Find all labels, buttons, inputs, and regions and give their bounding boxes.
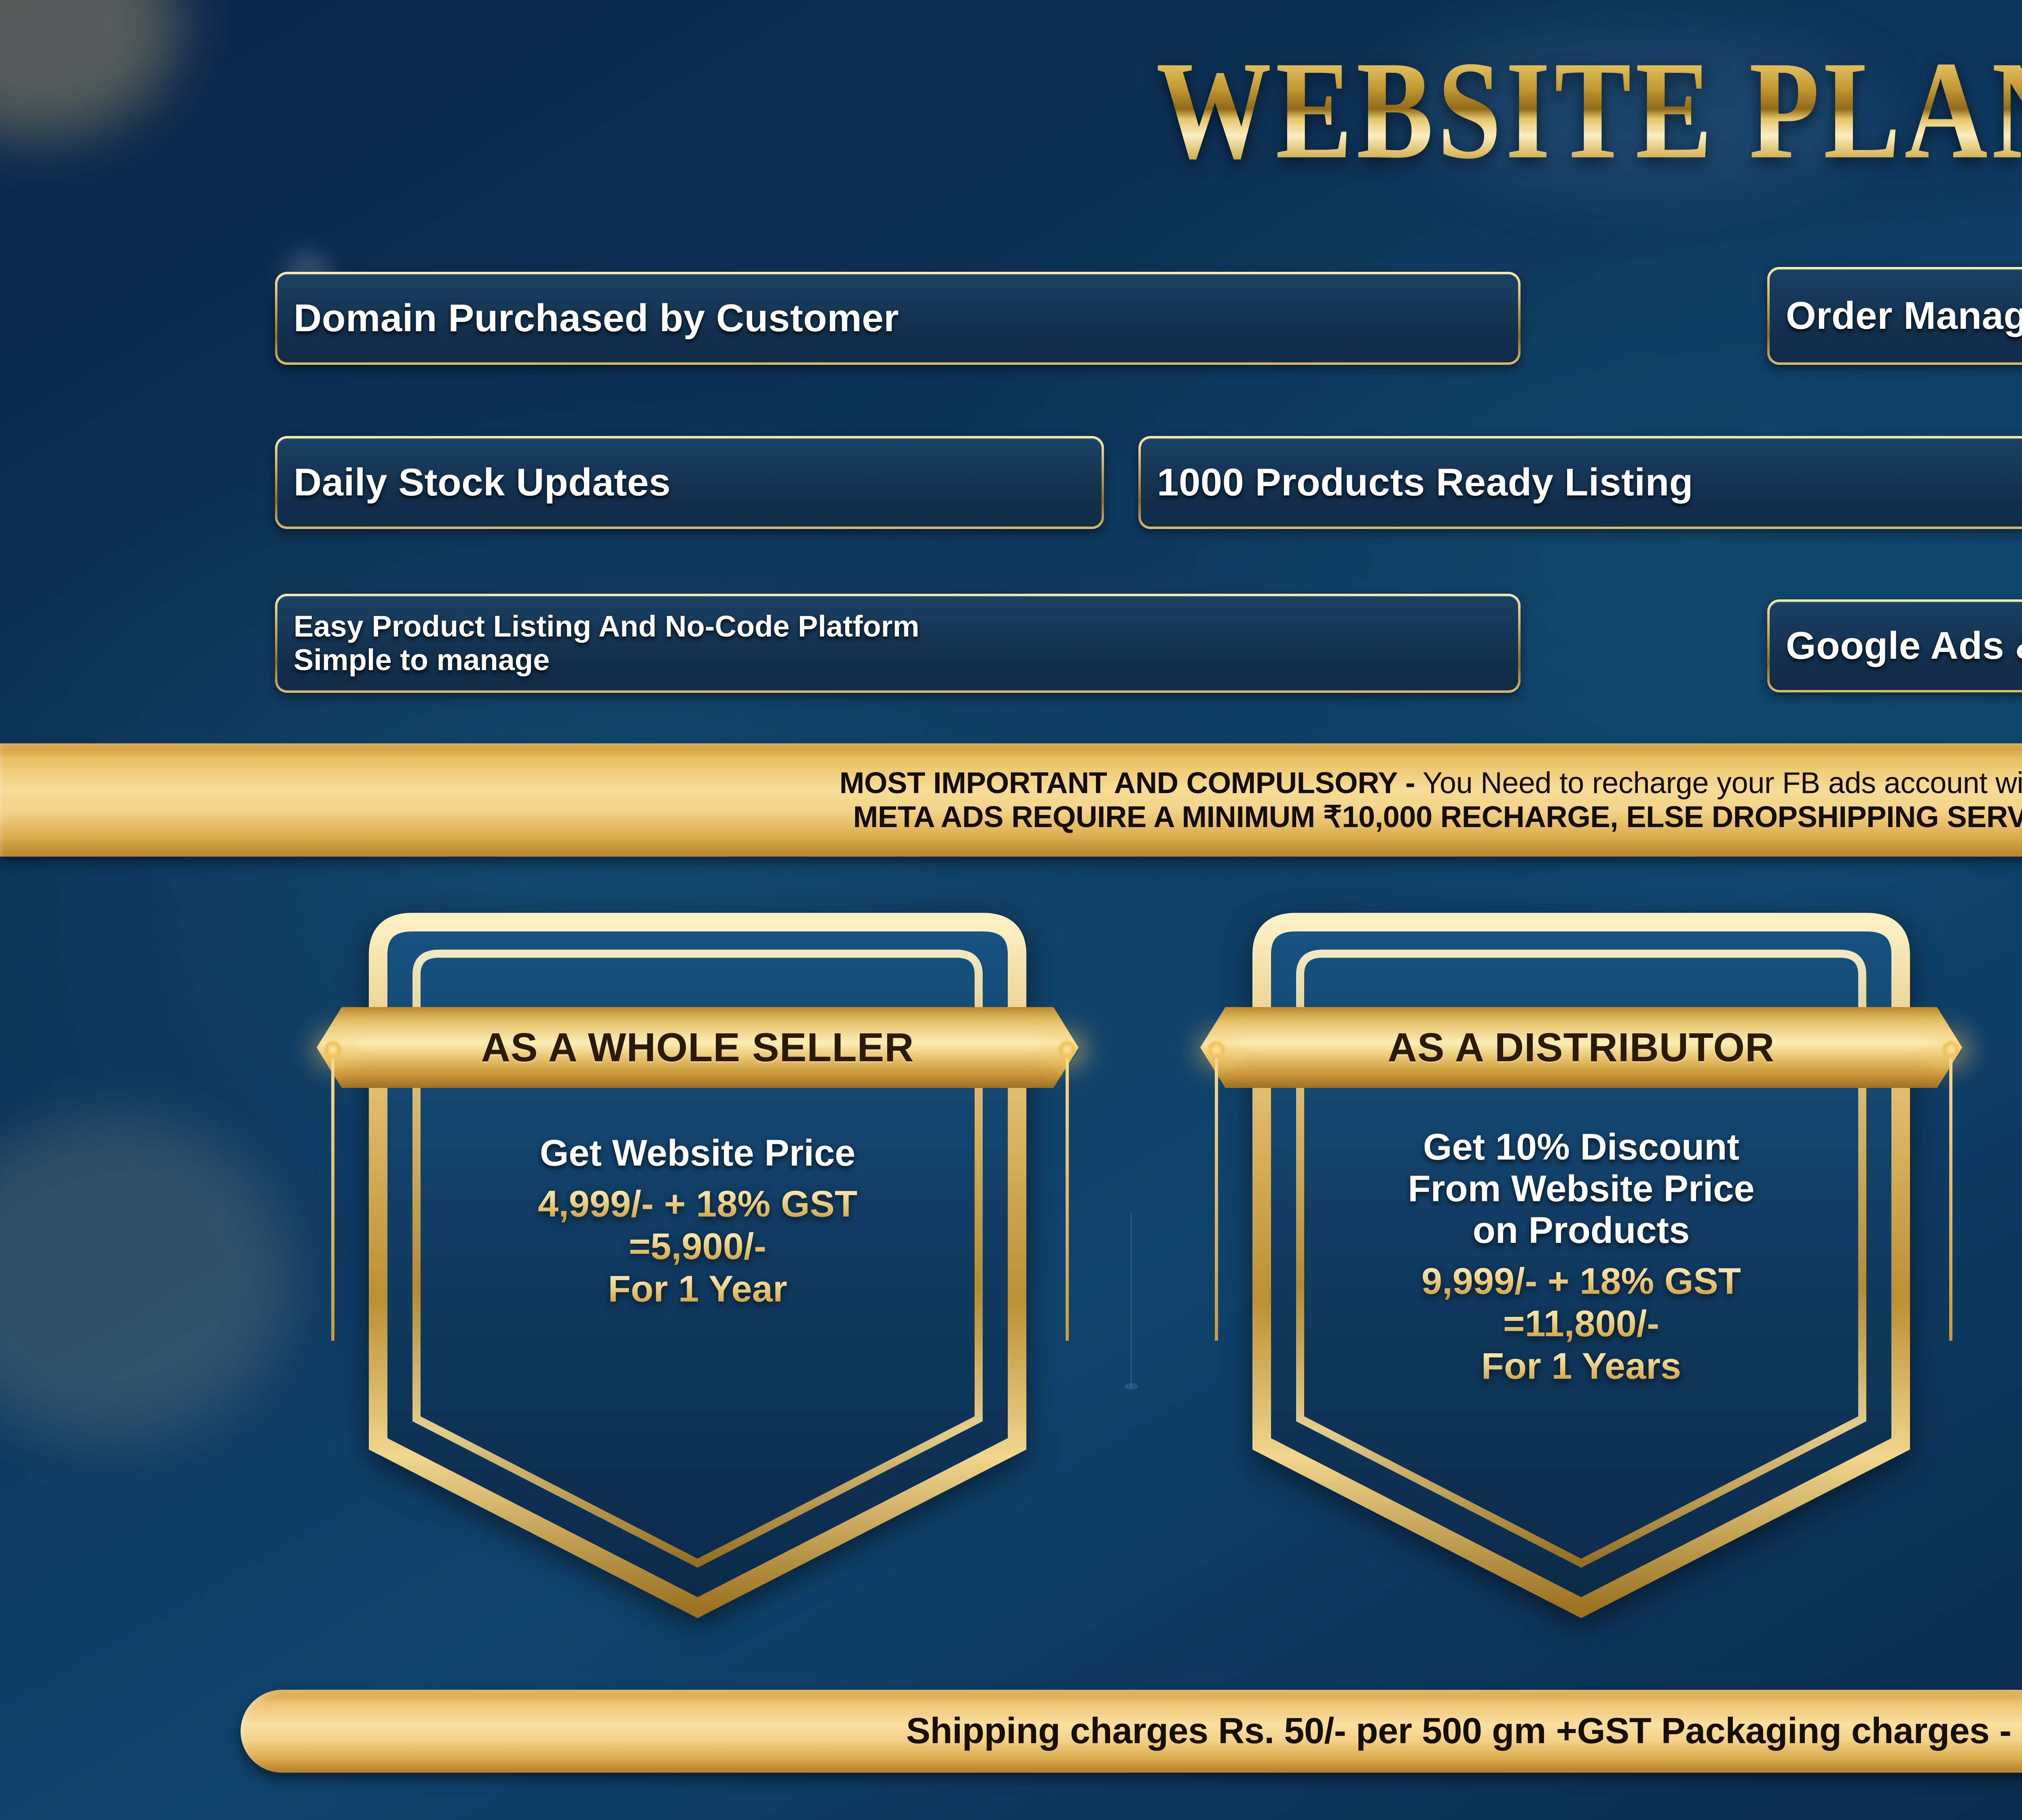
glow-pin-left: [1215, 1050, 1218, 1341]
plan-ribbon: AS A WHOLE SELLER: [317, 1007, 1079, 1088]
page-title: WEBSITE PLAN: [0, 40, 2022, 181]
circuit-line-stem-2: [1130, 1213, 1132, 1387]
glow-pin-right: [1066, 1050, 1069, 1341]
notice-band: MOST IMPORTANT AND COMPULSORY - You Need…: [0, 743, 2022, 857]
glow-pin-right: [1949, 1050, 1952, 1341]
feature-label: Easy Product Listing And No-Code Platfor…: [294, 610, 919, 677]
plan-gold-line: =5,900/-: [342, 1225, 1053, 1268]
footer-label: Shipping charges Rs. 50/- per 500 gm +GS…: [906, 1710, 2022, 1752]
plan-body: Get Website Price 4,999/- + 18% GST =5,9…: [342, 1132, 1053, 1310]
glow-left-mid: [0, 1116, 291, 1440]
plan-ribbon-label: AS A WHOLE SELLER: [481, 1024, 914, 1071]
plan-gold-line: For 1 Year: [342, 1268, 1053, 1310]
footer-shipping-charges-bar: Shipping charges Rs. 50/- per 500 gm +GS…: [241, 1690, 2022, 1773]
feature-label: Google Ads & Meta Pixel Integration: [1786, 626, 2022, 666]
plan-gold-line: 9,999/- + 18% GST: [1225, 1260, 1937, 1303]
plan-gold-line: =11,800/-: [1225, 1303, 1937, 1345]
plan-white-line: Get Website Price: [342, 1132, 1053, 1174]
notice-line-1: MOST IMPORTANT AND COMPULSORY - You Need…: [840, 766, 2022, 800]
glow-pin-left: [331, 1050, 334, 1341]
feature-label: Domain Purchased by Customer: [294, 298, 899, 339]
plan-body: Get 10% Discount From Website Price on P…: [1225, 1126, 1937, 1388]
feature-chip-google-ads-meta-pixel[interactable]: Google Ads & Meta Pixel Integration: [1767, 599, 2022, 692]
feature-chip-1000-products-ready-listing[interactable]: 1000 Products Ready Listing: [1138, 436, 2022, 529]
plan-card-whole-seller[interactable]: AS A WHOLE SELLER Get Website Price 4,99…: [342, 906, 1053, 1626]
feature-chip-daily-stock-updates[interactable]: Daily Stock Updates: [275, 436, 1104, 529]
plan-ribbon-label: AS A DISTRIBUTOR: [1388, 1024, 1775, 1071]
notice-line-2: META ADS REQUIRE A MINIMUM ₹10,000 RECHA…: [853, 800, 2022, 834]
feature-chip-domain-purchased[interactable]: Domain Purchased by Customer: [275, 272, 1521, 365]
feature-label: 1000 Products Ready Listing: [1157, 462, 1693, 503]
poster-root: WEBSITE PLAN Domain Purchased by Custome…: [0, 0, 2022, 1820]
plan-gold-line: For 1 Years: [1225, 1345, 1937, 1388]
feature-label: Daily Stock Updates: [294, 462, 670, 503]
plan-ribbon: AS A DISTRIBUTOR: [1200, 1007, 1962, 1088]
plan-white-line: on Products: [1225, 1210, 1937, 1251]
notice-line-1-strong: MOST IMPORTANT AND COMPULSORY -: [840, 766, 1415, 800]
plan-white-line: Get 10% Discount: [1225, 1126, 1937, 1168]
notice-line-1-rest: You Need to recharge your FB ads account…: [1415, 766, 2022, 800]
plan-white-line: From Website Price: [1225, 1168, 1937, 1210]
plan-card-distributor[interactable]: AS A DISTRIBUTOR Get 10% Discount From W…: [1225, 906, 1937, 1626]
feature-chip-order-management-panel[interactable]: Order Management Panel No Monthly Hostin…: [1767, 267, 2022, 365]
feature-label: Order Management Panel: [1786, 296, 2022, 336]
feature-chip-easy-product-listing[interactable]: Easy Product Listing And No-Code Platfor…: [275, 594, 1521, 693]
plan-gold-line: 4,999/- + 18% GST: [342, 1183, 1053, 1225]
